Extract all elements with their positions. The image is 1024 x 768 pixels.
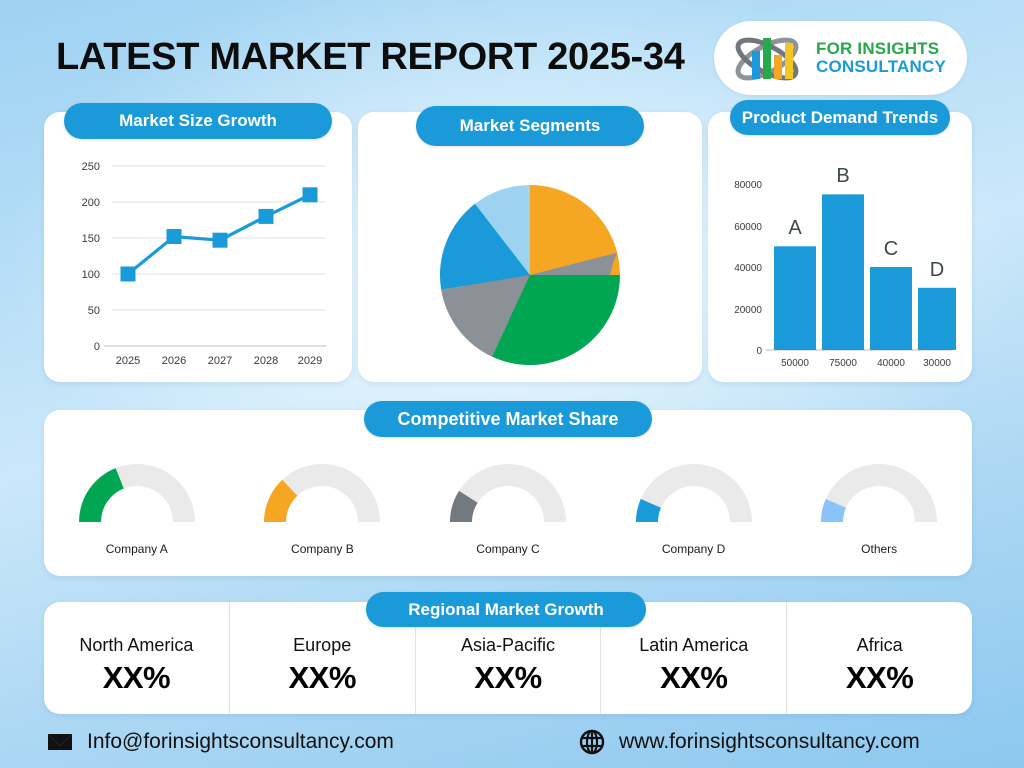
svg-text:40000: 40000 (734, 263, 762, 274)
gauge-arc (618, 454, 770, 534)
product-demand-trends-badge: Product Demand Trends (730, 100, 950, 135)
region-north-america: North AmericaXX% (44, 602, 230, 714)
header: LATEST MARKET REPORT 2025-34 FOR INSIGHT… (0, 0, 1024, 100)
envelope-icon (46, 728, 74, 756)
svg-text:50: 50 (88, 305, 100, 317)
bar-b (822, 194, 864, 350)
gauge-others: Others (794, 454, 964, 556)
footer-website[interactable]: www.forinsightsconsultancy.com (578, 728, 920, 756)
gauge-company-b: Company B (237, 454, 407, 556)
svg-text:50000: 50000 (781, 358, 809, 369)
region-value: XX% (474, 660, 541, 696)
market-segments-badge: Market Segments (416, 106, 644, 146)
region-name: Asia-Pacific (461, 635, 555, 656)
logo-text: FOR INSIGHTS CONSULTANCY (816, 40, 946, 75)
gauge-arc (246, 454, 398, 534)
globe-icon (578, 728, 606, 756)
svg-text:2026: 2026 (162, 355, 186, 367)
svg-text:30000: 30000 (923, 358, 951, 369)
region-value: XX% (288, 660, 355, 696)
svg-text:200: 200 (82, 197, 100, 209)
bar-c (870, 267, 912, 350)
region-africa: AfricaXX% (787, 602, 972, 714)
company-logo: FOR INSIGHTS CONSULTANCY (714, 21, 967, 95)
footer-website-text: www.forinsightsconsultancy.com (619, 730, 920, 754)
svg-text:40000: 40000 (877, 358, 905, 369)
region-name: Europe (293, 635, 351, 656)
svg-text:250: 250 (82, 161, 100, 173)
market-size-growth-card: 250 200 150 100 50 0 2025 2026 2027 2028… (44, 112, 352, 382)
gauge-arc (803, 454, 955, 534)
product-demand-trends-card: 80000 60000 40000 20000 0 A B C D 50000 … (708, 112, 972, 382)
svg-text:C: C (884, 238, 898, 260)
market-size-growth-line-chart: 250 200 150 100 50 0 2025 2026 2027 2028… (44, 112, 352, 382)
gauge-label: Company C (476, 542, 539, 556)
svg-text:20000: 20000 (734, 305, 762, 316)
gauge-label: Company B (291, 542, 354, 556)
gauge-label: Others (861, 542, 897, 556)
logo-line-2: CONSULTANCY (816, 58, 946, 76)
svg-text:2028: 2028 (254, 355, 278, 367)
page-title: LATEST MARKET REPORT 2025-34 (56, 36, 685, 79)
gauge-company-a: Company A (52, 454, 222, 556)
footer: Info@forinsightsconsultancy.com www.fori… (0, 722, 1024, 768)
gauge-label: Company D (662, 542, 725, 556)
region-value: XX% (660, 660, 727, 696)
regional-market-growth-badge: Regional Market Growth (366, 592, 646, 627)
region-name: Latin America (639, 635, 748, 656)
svg-text:60000: 60000 (734, 222, 762, 233)
svg-text:75000: 75000 (829, 358, 857, 369)
svg-text:2029: 2029 (298, 355, 322, 367)
bar-chart-orbit-logo-icon (730, 29, 806, 87)
gauge-fill (79, 468, 124, 522)
footer-email-text: Info@forinsightsconsultancy.com (87, 730, 394, 754)
market-size-growth-badge: Market Size Growth (64, 103, 332, 139)
gauge-label: Company A (106, 542, 168, 556)
infographic-page: LATEST MARKET REPORT 2025-34 FOR INSIGHT… (0, 0, 1024, 768)
competitive-market-share-badge: Competitive Market Share (364, 401, 652, 437)
gauge-company-d: Company D (609, 454, 779, 556)
market-segments-pie-chart (358, 112, 702, 382)
region-value: XX% (103, 660, 170, 696)
market-segments-card (358, 112, 702, 382)
bar-a (774, 246, 816, 350)
product-demand-trends-bar-chart: 80000 60000 40000 20000 0 A B C D 50000 … (708, 112, 972, 382)
footer-email[interactable]: Info@forinsightsconsultancy.com (46, 728, 394, 756)
gauge-company-c: Company C (423, 454, 593, 556)
svg-text:0: 0 (756, 346, 762, 357)
logo-line-1: FOR INSIGHTS (816, 40, 946, 58)
region-value: XX% (846, 660, 913, 696)
gauge-arc (61, 454, 213, 534)
svg-text:B: B (836, 165, 849, 187)
region-name: North America (79, 635, 193, 656)
svg-text:2025: 2025 (116, 355, 140, 367)
gauge-arc (432, 454, 584, 534)
svg-text:2027: 2027 (208, 355, 232, 367)
bar-d (918, 288, 956, 350)
svg-text:0: 0 (94, 341, 100, 353)
svg-text:150: 150 (82, 233, 100, 245)
svg-text:100: 100 (82, 269, 100, 281)
svg-text:80000: 80000 (734, 180, 762, 191)
svg-text:D: D (930, 259, 944, 281)
region-name: Africa (857, 635, 903, 656)
svg-text:A: A (788, 217, 802, 239)
gauge-row: Company ACompany BCompany CCompany DOthe… (44, 454, 972, 572)
